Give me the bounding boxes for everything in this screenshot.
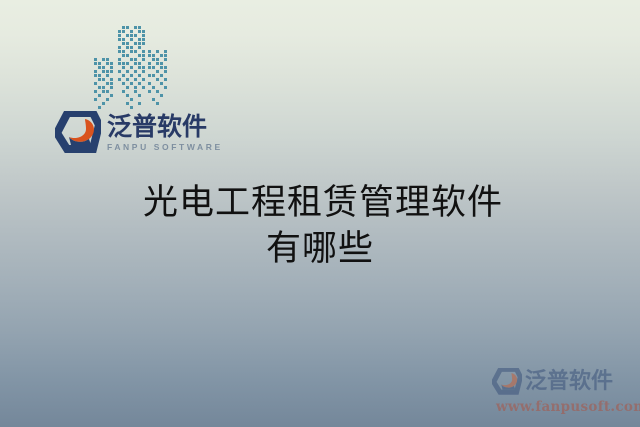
- watermark: 泛普软件 www.fanpusoft.com: [492, 368, 638, 420]
- page-title: 光电工程租赁管理软件 有哪些: [0, 180, 640, 272]
- pixel-city-skyline-icon: [92, 24, 168, 120]
- brand-logo-text: 泛普软件 FANPU SOFTWARE: [107, 114, 223, 152]
- watermark-brand-row: 泛普软件: [492, 368, 638, 396]
- brand-name-en: FANPU SOFTWARE: [107, 142, 223, 152]
- brand-name-cn: 泛普软件: [107, 114, 223, 140]
- brand-logo: 泛普软件 FANPU SOFTWARE: [55, 111, 223, 155]
- fanpu-hexagon-swoosh-logo-icon: [492, 368, 522, 396]
- slide-canvas: 泛普软件 FANPU SOFTWARE 光电工程租赁管理软件 有哪些 泛普软件 …: [0, 0, 640, 427]
- watermark-brand-name: 泛普软件: [525, 371, 613, 393]
- page-title-line-2: 有哪些: [0, 226, 640, 272]
- watermark-url: www.fanpusoft.com: [496, 399, 638, 415]
- page-title-line-1: 光电工程租赁管理软件: [0, 180, 640, 226]
- fanpu-hexagon-swoosh-logo-icon: [55, 111, 101, 155]
